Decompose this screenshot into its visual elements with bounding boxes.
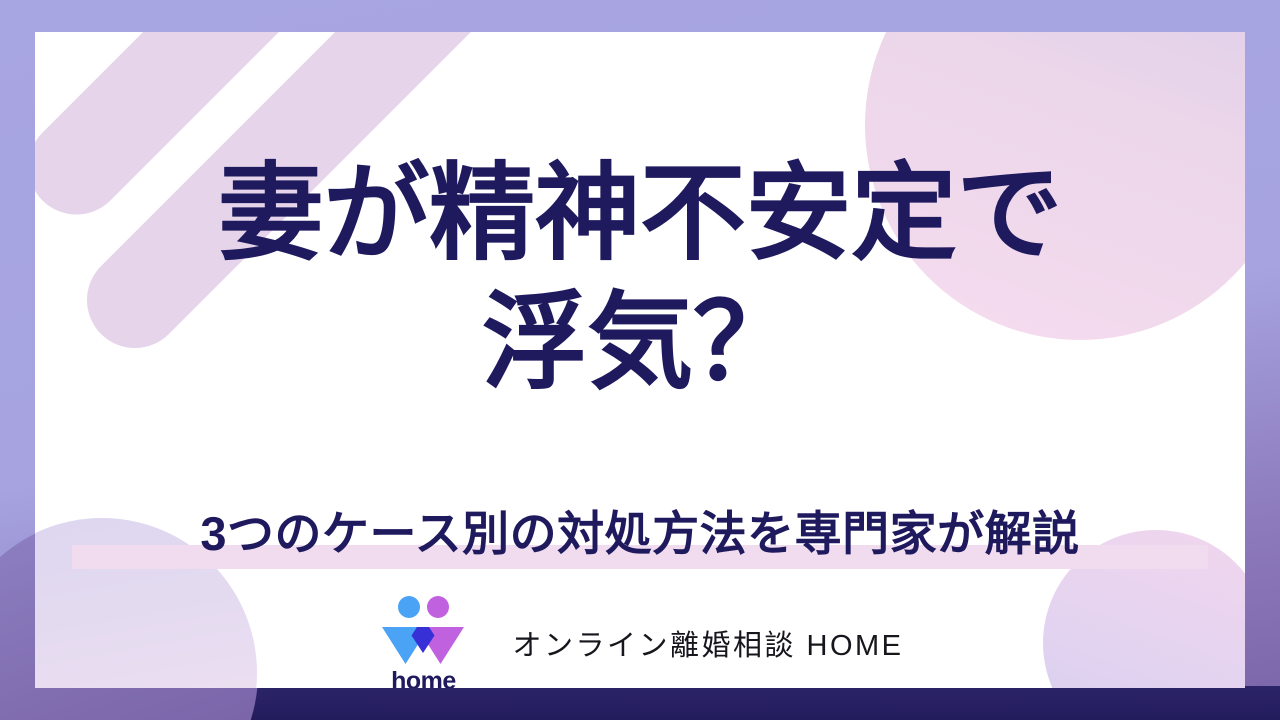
thumbnail-canvas: 妻が精神不安定で 浮気？ 3つのケース別の対処方法を専門家が解説: [0, 0, 1280, 720]
brand-footer: home オンライン離婚相談 HOME: [35, 594, 1245, 688]
white-content-card: 妻が精神不安定で 浮気？ 3つのケース別の対処方法を専門家が解説: [35, 32, 1245, 688]
headline-line-1: 妻が精神不安定で: [35, 150, 1245, 279]
home-logo-wordmark: home: [376, 669, 470, 688]
headline-block: 妻が精神不安定で 浮気？: [35, 150, 1245, 409]
home-logo: home: [376, 594, 470, 688]
card-content: 妻が精神不安定で 浮気？ 3つのケース別の対処方法を専門家が解説: [35, 32, 1245, 688]
headline-line-2: 浮気？: [35, 279, 1245, 408]
subheadline-text: 3つのケース別の対処方法を専門家が解説: [72, 494, 1208, 574]
brand-name-text: オンライン離婚相談 HOME: [512, 622, 903, 664]
subheadline-block: 3つのケース別の対処方法を専門家が解説: [72, 494, 1208, 574]
